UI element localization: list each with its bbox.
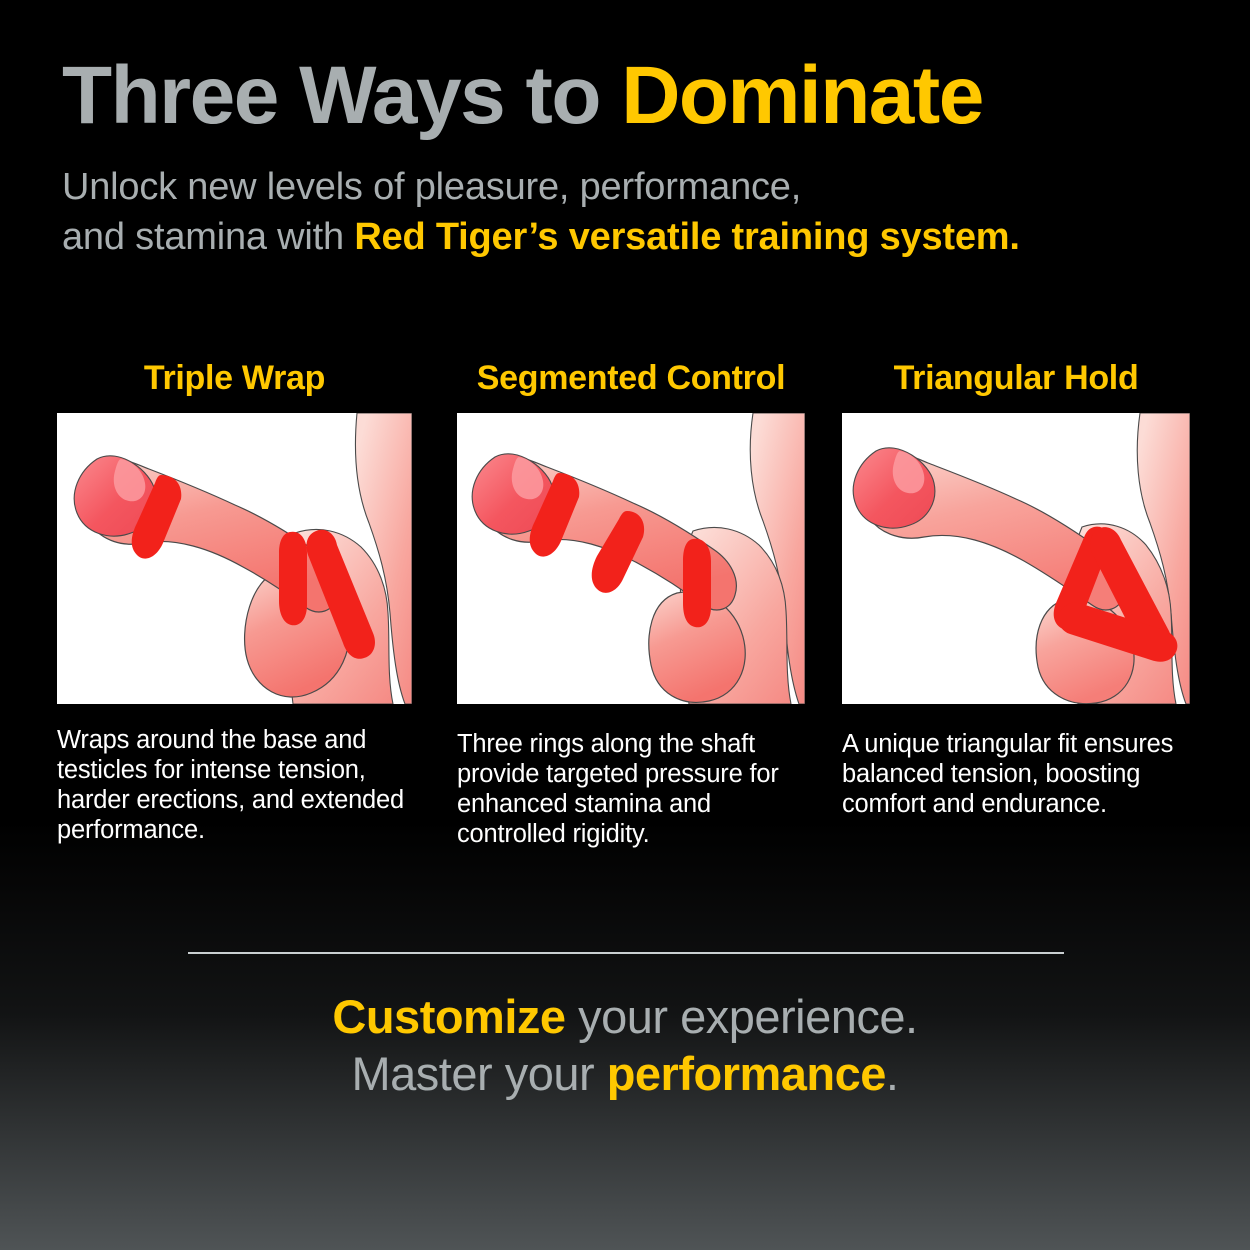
section-divider: [188, 952, 1064, 954]
feature-card-triangular-hold: Triangular Hold: [842, 355, 1190, 819]
feature-card-description: Three rings along the shaft provide targ…: [457, 729, 805, 849]
page-title-accent: Dominate: [621, 50, 983, 141]
triple-wrap-illustration: [57, 413, 412, 704]
feature-card-description: Wraps around the base and testicles for …: [57, 725, 412, 845]
footer-line-1-plain: your experience.: [566, 990, 918, 1043]
footer-line-2-accent: performance: [607, 1047, 886, 1100]
footer-line-2-tail: .: [886, 1047, 899, 1100]
page-subtitle: Unlock new levels of pleasure, performan…: [62, 162, 1202, 262]
footer-line-1: Customize your experience.: [0, 988, 1250, 1045]
triangular-hold-illustration: [842, 413, 1190, 704]
segmented-control-illustration: [457, 413, 805, 704]
feature-card-triple-wrap: Triple Wrap: [57, 355, 412, 845]
page-subtitle-line-2-plain: and stamina with: [62, 216, 354, 258]
feature-card-title: Triangular Hold: [842, 355, 1190, 413]
feature-card-title: Segmented Control: [457, 355, 805, 413]
page-subtitle-line-1: Unlock new levels of pleasure, performan…: [62, 166, 801, 208]
footer-line-2: Master your performance.: [0, 1045, 1250, 1102]
page-title-plain: Three Ways to: [62, 50, 621, 141]
feature-card-segmented-control: Segmented Control: [457, 355, 805, 849]
page-subtitle-line-2-accent: Red Tiger’s versatile training system.: [354, 216, 1019, 258]
feature-card-title: Triple Wrap: [57, 355, 412, 413]
footer-line-2-plain: Master your: [352, 1047, 607, 1100]
promo-page: Three Ways to Dominate Unlock new levels…: [0, 0, 1250, 1250]
feature-cards: Triple Wrap: [0, 355, 1250, 875]
footer-callout: Customize your experience. Master your p…: [0, 988, 1250, 1102]
feature-card-description: A unique triangular fit ensures balanced…: [842, 729, 1190, 819]
footer-line-1-accent: Customize: [332, 990, 565, 1043]
page-title: Three Ways to Dominate: [62, 52, 1192, 140]
